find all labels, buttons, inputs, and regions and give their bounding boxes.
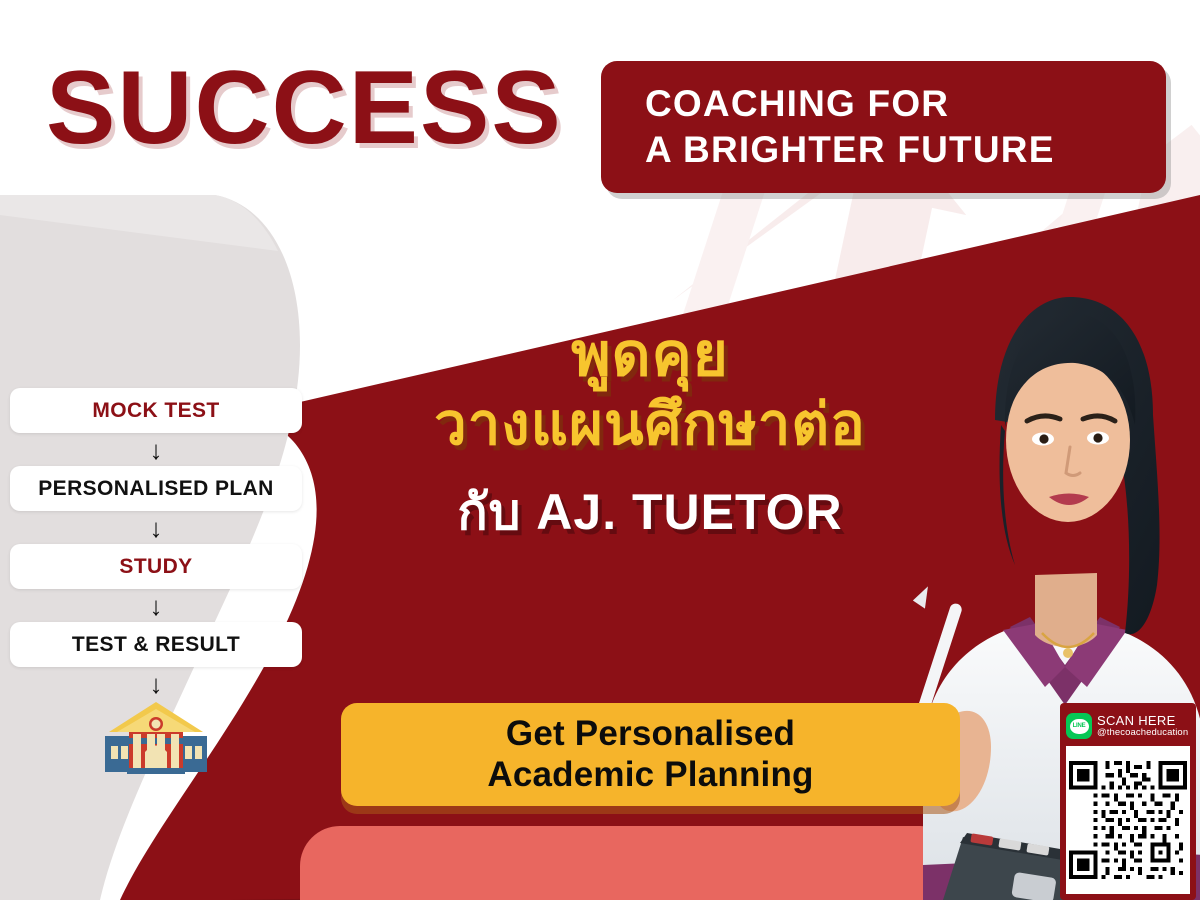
qr-card-header: LINE SCAN HERE @thecoacheducation bbox=[1066, 708, 1190, 744]
poster-canvas: SUCCESS COACHING FOR A BRIGHTER FUTURE M… bbox=[0, 0, 1200, 900]
flow-arrow-icon: ↓ bbox=[10, 667, 302, 700]
flow-step-label: STUDY bbox=[119, 555, 192, 579]
flow-arrow-icon: ↓ bbox=[10, 589, 302, 622]
flow-arrow-icon: ↓ bbox=[10, 511, 302, 544]
cta-button[interactable]: Get Personalised Academic Planning bbox=[341, 703, 960, 806]
line-app-icon-label: LINE bbox=[1070, 719, 1089, 734]
header: SUCCESS COACHING FOR A BRIGHTER FUTURE bbox=[0, 0, 1200, 205]
tagline-line-2: A BRIGHTER FUTURE bbox=[645, 127, 1166, 173]
cta-line-1: Get Personalised bbox=[506, 714, 795, 755]
flow-step-label: PERSONALISED PLAN bbox=[38, 477, 274, 501]
main-headline: พูดคุย วางแผนศึกษาต่อ กับ AJ. TUETOR bbox=[330, 320, 970, 544]
flow-step-test-and-result[interactable]: TEST & RESULT bbox=[10, 622, 302, 667]
line-handle-label: @thecoacheducation bbox=[1097, 728, 1188, 738]
tagline-line-1: COACHING FOR bbox=[645, 81, 1166, 127]
flow-step-study[interactable]: STUDY bbox=[10, 544, 302, 589]
flow-step-label: MOCK TEST bbox=[92, 399, 219, 423]
header-tagline-badge: COACHING FOR A BRIGHTER FUTURE bbox=[601, 61, 1166, 193]
qr-card-texts: SCAN HERE @thecoacheducation bbox=[1097, 714, 1188, 738]
flow-step-label: TEST & RESULT bbox=[72, 633, 240, 657]
page-title: SUCCESS bbox=[46, 56, 563, 160]
qr-code-image[interactable] bbox=[1066, 746, 1190, 894]
salmon-bottom-shape bbox=[300, 826, 960, 900]
headline-thai-line-1: พูดคุย bbox=[330, 320, 970, 391]
cta-line-2: Academic Planning bbox=[487, 755, 813, 796]
university-building-icon bbox=[10, 700, 302, 776]
process-flow-list: MOCK TEST ↓ PERSONALISED PLAN ↓ STUDY ↓ … bbox=[10, 388, 302, 776]
headline-thai-line-3: กับ AJ. TUETOR bbox=[330, 481, 970, 544]
qr-code-svg bbox=[1069, 761, 1187, 879]
flow-arrow-icon: ↓ bbox=[10, 433, 302, 466]
headline-thai-line-2: วางแผนศึกษาต่อ bbox=[330, 391, 970, 459]
qr-scan-card[interactable]: LINE SCAN HERE @thecoacheducation bbox=[1060, 703, 1196, 900]
flow-step-personalised-plan[interactable]: PERSONALISED PLAN bbox=[10, 466, 302, 511]
flow-step-mock-test[interactable]: MOCK TEST bbox=[10, 388, 302, 433]
line-app-icon: LINE bbox=[1066, 713, 1092, 739]
scan-here-label: SCAN HERE bbox=[1097, 714, 1188, 728]
